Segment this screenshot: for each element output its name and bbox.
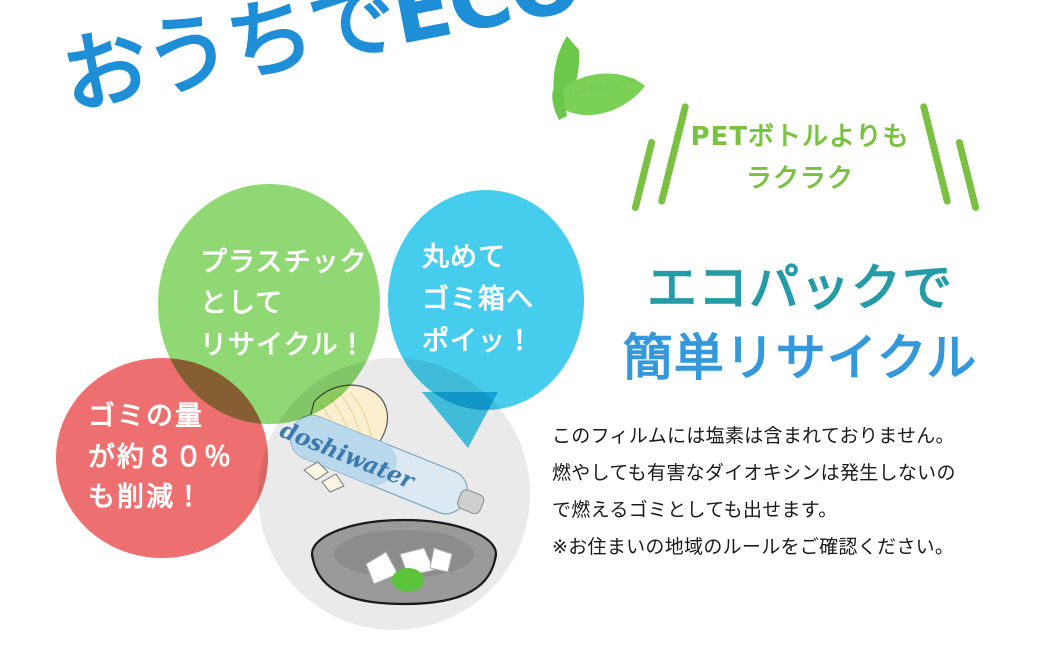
bubble-blue-line-3: ポイッ！ — [422, 321, 584, 363]
bubble-red-line-2: が約８０％ — [88, 438, 268, 479]
headline-line-1: エコパックで — [560, 248, 1040, 320]
eco-poster: おうちでECO leaflet eco PETボトルよりも ラクラク エコパック… — [0, 0, 1040, 647]
bubble-toss-in-bin: 丸めて ゴミ箱へ ポイッ！ — [388, 190, 584, 410]
page-title: おうちでECO — [55, 0, 588, 124]
right-column: PETボトルよりも ラクラク エコパックで 簡単リサイクル — [560, 96, 1040, 212]
pet-line-2: ラクラク — [560, 158, 1040, 195]
pet-callout: PETボトルよりも ラクラク — [560, 96, 1040, 212]
bubble-waste-reduction: ゴミの量 が約８０％ も削減！ — [56, 358, 268, 558]
title-block: おうちでECO — [72, 34, 592, 174]
bubble-red-line-1: ゴミの量 — [88, 397, 268, 438]
disclaimer-line-1: このフィルムには塩素は含まれておりません。 — [552, 418, 1028, 455]
disclaimer-line-3: で燃えるゴミとしても出せます。 — [552, 492, 1028, 529]
headline-line-2: 簡単リサイクル — [560, 318, 1040, 390]
disclaimer-text: このフィルムには塩素は含まれておりません。 燃やしても有害なダイオキシンは発生し… — [552, 418, 1028, 566]
bubble-blue-line-2: ゴミ箱へ — [422, 279, 584, 321]
bubble-green-line-2: として — [200, 283, 380, 324]
bubble-green-line-3: リサイクル！ — [200, 325, 380, 366]
bubble-green-line-1: プラスチック — [200, 242, 380, 283]
bubble-blue-line-1: 丸めて — [422, 237, 584, 279]
pet-line-1: PETボトルよりも — [560, 116, 1040, 153]
disclaimer-line-2: 燃やしても有害なダイオキシンは発生しないの — [552, 455, 1028, 492]
bubble-red-line-3: も削減！ — [88, 478, 268, 519]
disclaimer-line-4: ※お住まいの地域のルールをご確認ください。 — [552, 529, 1028, 566]
